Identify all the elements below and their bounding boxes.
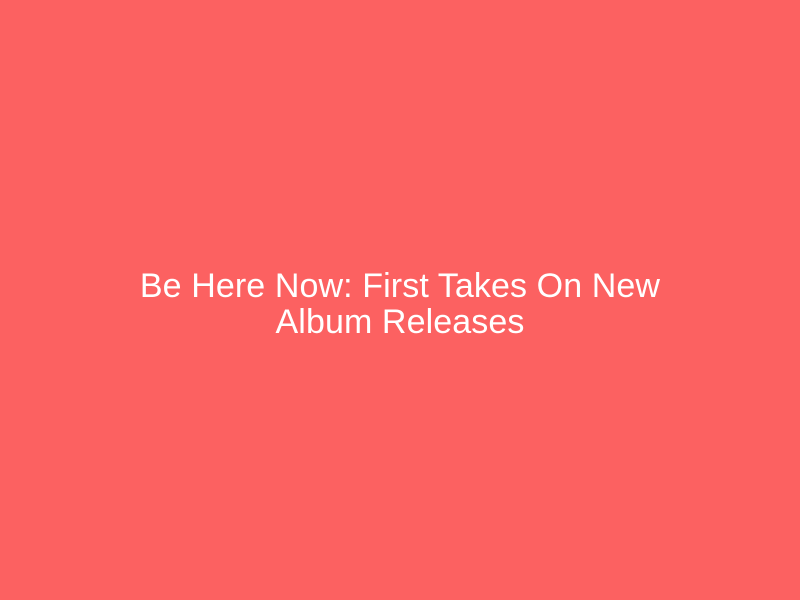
placeholder-card: Be Here Now: First Takes On New Album Re… [0,0,800,600]
page-title: Be Here Now: First Takes On New Album Re… [90,268,710,340]
title-block: Be Here Now: First Takes On New Album Re… [90,260,710,340]
